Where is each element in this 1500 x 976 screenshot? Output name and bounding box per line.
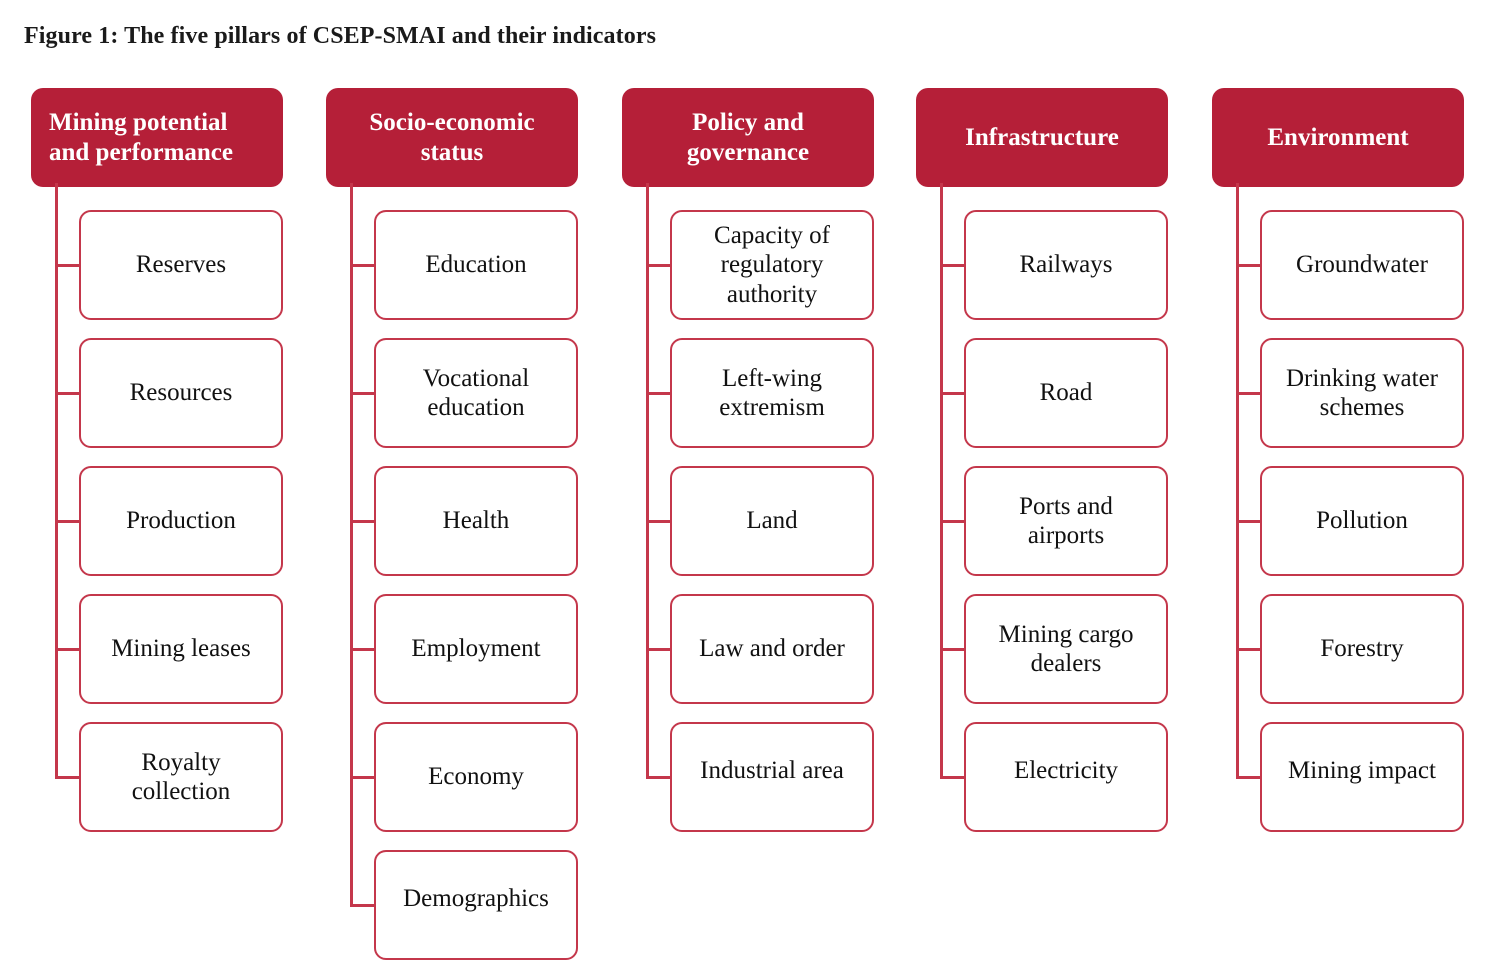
- pillar-header-environment[interactable]: Environment: [1212, 88, 1464, 187]
- indicator-label: Royaltycollection: [91, 748, 271, 807]
- indicator-label: Railways: [976, 250, 1156, 279]
- connector-trunk: [646, 183, 649, 777]
- connector-stub: [940, 776, 964, 779]
- indicator-label: Production: [91, 506, 271, 535]
- connector-stub: [55, 648, 79, 651]
- indicator-label: Pollution: [1272, 506, 1452, 535]
- indicator-box[interactable]: Pollution: [1260, 466, 1464, 576]
- connector-stub: [1236, 392, 1260, 395]
- connector-stub: [55, 392, 79, 395]
- indicator-label: Vocationaleducation: [386, 364, 566, 423]
- connector-stub: [350, 392, 374, 395]
- indicator-label: Education: [386, 250, 566, 279]
- pillar-header-label: Mining potentialand performance: [49, 108, 265, 168]
- indicator-label: Reserves: [91, 250, 271, 279]
- indicator-box[interactable]: Reserves: [79, 210, 283, 320]
- indicator-box[interactable]: Forestry: [1260, 594, 1464, 704]
- pillar-header-socio-economic-status[interactable]: Socio-economicstatus: [326, 88, 578, 187]
- indicator-box[interactable]: Economy: [374, 722, 578, 832]
- indicator-label: Ports andairports: [976, 492, 1156, 551]
- figure-title: Figure 1: The five pillars of CSEP-SMAI …: [24, 23, 656, 50]
- connector-trunk: [1236, 183, 1239, 777]
- connector-stub: [940, 520, 964, 523]
- connector-stub: [646, 392, 670, 395]
- indicator-label: Demographics: [386, 884, 566, 913]
- indicator-box[interactable]: Demographics: [374, 850, 578, 960]
- indicator-box[interactable]: Vocationaleducation: [374, 338, 578, 448]
- connector-stub: [55, 520, 79, 523]
- indicator-label: Employment: [386, 634, 566, 663]
- connector-stub: [350, 648, 374, 651]
- pillar-header-label: Environment: [1230, 123, 1446, 153]
- connector-trunk: [350, 183, 353, 905]
- indicator-box[interactable]: Education: [374, 210, 578, 320]
- connector-stub: [646, 776, 670, 779]
- connector-stub: [1236, 520, 1260, 523]
- connector-stub: [1236, 264, 1260, 267]
- connector-trunk: [940, 183, 943, 777]
- indicator-label: Forestry: [1272, 634, 1452, 663]
- indicator-label: Economy: [386, 762, 566, 791]
- indicator-box[interactable]: Capacity ofregulatoryauthority: [670, 210, 874, 320]
- indicator-label: Road: [976, 378, 1156, 407]
- pillar-header-policy-and-governance[interactable]: Policy andgovernance: [622, 88, 874, 187]
- indicator-box[interactable]: Left-wingextremism: [670, 338, 874, 448]
- indicator-label: Law and order: [682, 634, 862, 663]
- indicator-box[interactable]: Land: [670, 466, 874, 576]
- connector-stub: [1236, 776, 1260, 779]
- connector-trunk: [55, 183, 58, 777]
- indicator-label: Left-wingextremism: [682, 364, 862, 423]
- connector-stub: [646, 264, 670, 267]
- pillar-header-infrastructure[interactable]: Infrastructure: [916, 88, 1168, 187]
- indicator-box[interactable]: Production: [79, 466, 283, 576]
- figure-canvas: Figure 1: The five pillars of CSEP-SMAI …: [0, 0, 1500, 976]
- indicator-label: Mining cargodealers: [976, 620, 1156, 679]
- indicator-label: Groundwater: [1272, 250, 1452, 279]
- indicator-box[interactable]: Employment: [374, 594, 578, 704]
- indicator-label: Electricity: [976, 756, 1156, 785]
- connector-stub: [940, 392, 964, 395]
- connector-stub: [55, 264, 79, 267]
- indicator-label: Health: [386, 506, 566, 535]
- connector-stub: [940, 264, 964, 267]
- indicator-box[interactable]: Mining cargodealers: [964, 594, 1168, 704]
- indicator-box[interactable]: Drinking waterschemes: [1260, 338, 1464, 448]
- indicator-box[interactable]: Electricity: [964, 722, 1168, 832]
- indicator-label: Mining impact: [1272, 756, 1452, 785]
- indicator-box[interactable]: Industrial area: [670, 722, 874, 832]
- indicator-box[interactable]: Mining impact: [1260, 722, 1464, 832]
- indicator-box[interactable]: Royaltycollection: [79, 722, 283, 832]
- indicator-label: Land: [682, 506, 862, 535]
- indicator-box[interactable]: Railways: [964, 210, 1168, 320]
- indicator-box[interactable]: Groundwater: [1260, 210, 1464, 320]
- indicator-label: Mining leases: [91, 634, 271, 663]
- connector-stub: [646, 520, 670, 523]
- connector-stub: [350, 520, 374, 523]
- connector-stub: [940, 648, 964, 651]
- indicator-label: Capacity ofregulatoryauthority: [682, 221, 862, 309]
- pillar-header-label: Policy andgovernance: [640, 108, 856, 168]
- connector-stub: [646, 648, 670, 651]
- pillar-header-label: Socio-economicstatus: [344, 108, 560, 168]
- indicator-box[interactable]: Law and order: [670, 594, 874, 704]
- indicator-box[interactable]: Health: [374, 466, 578, 576]
- indicator-box[interactable]: Ports andairports: [964, 466, 1168, 576]
- indicator-label: Resources: [91, 378, 271, 407]
- connector-stub: [1236, 648, 1260, 651]
- connector-stub: [350, 904, 374, 907]
- connector-stub: [350, 776, 374, 779]
- pillar-header-mining-potential-and-performance[interactable]: Mining potentialand performance: [31, 88, 283, 187]
- pillar-header-label: Infrastructure: [934, 123, 1150, 153]
- indicator-box[interactable]: Mining leases: [79, 594, 283, 704]
- indicator-box[interactable]: Road: [964, 338, 1168, 448]
- connector-stub: [350, 264, 374, 267]
- indicator-box[interactable]: Resources: [79, 338, 283, 448]
- indicator-label: Drinking waterschemes: [1272, 364, 1452, 423]
- indicator-label: Industrial area: [682, 756, 862, 785]
- connector-stub: [55, 776, 79, 779]
